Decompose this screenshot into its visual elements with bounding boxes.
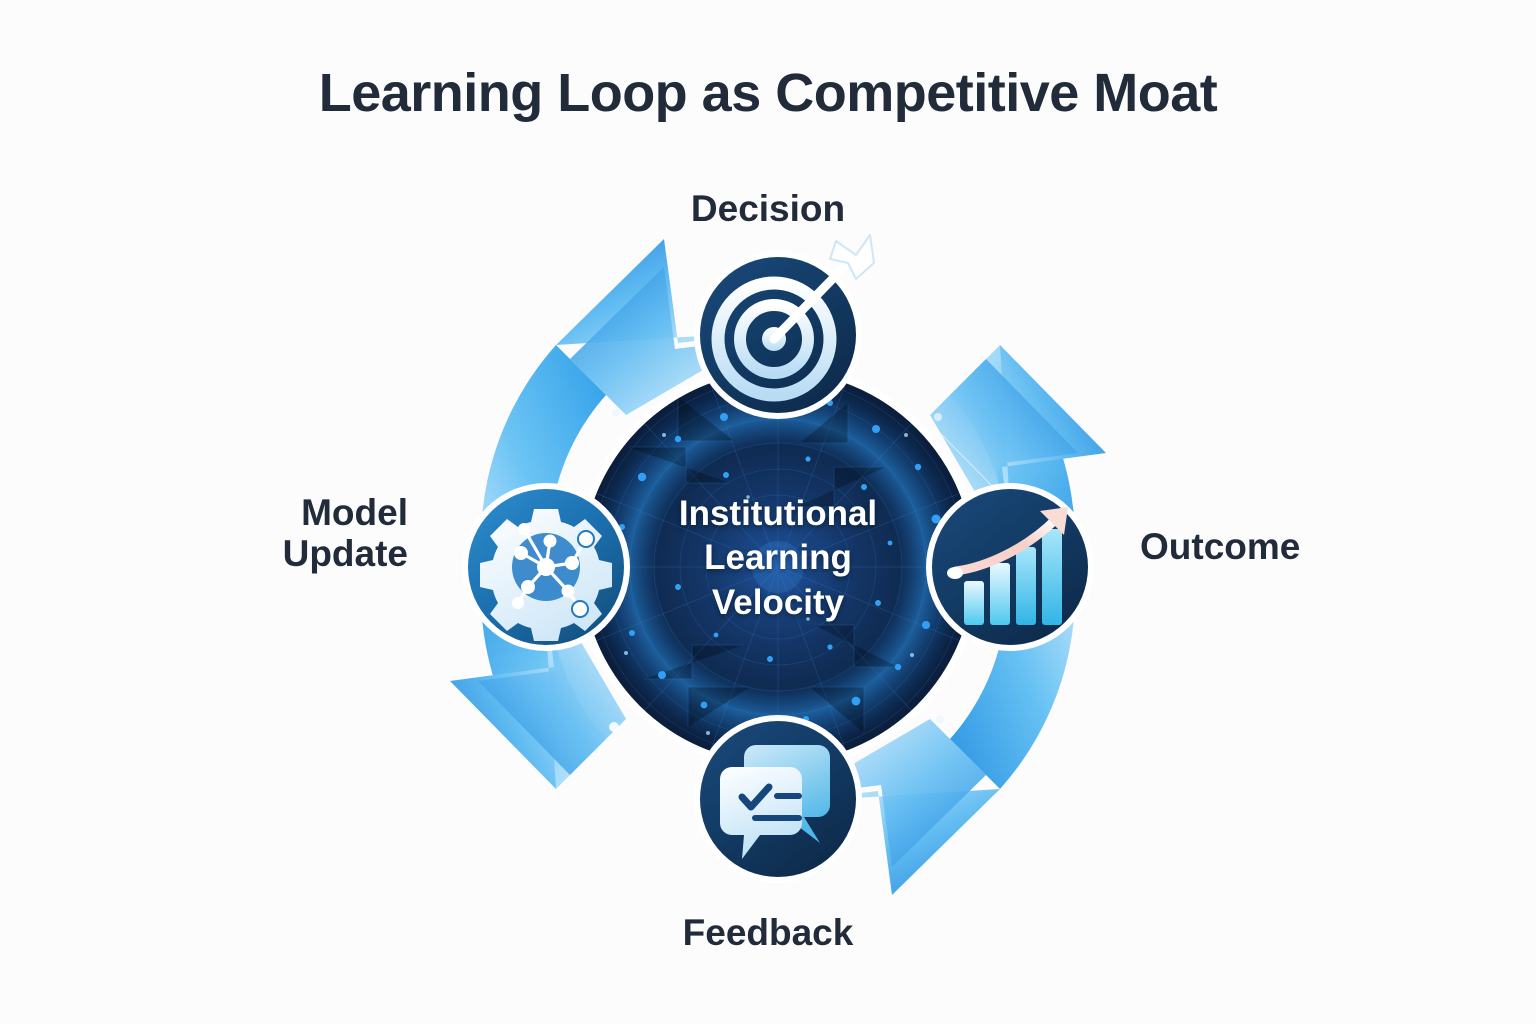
node-label-decision: Decision xyxy=(0,188,1536,229)
node-label-outcome: Outcome xyxy=(1140,526,1300,567)
core-disc xyxy=(575,364,981,770)
node-model-update[interactable] xyxy=(462,483,630,651)
node-feedback[interactable] xyxy=(694,715,862,883)
diagram-canvas: Learning Loop as Competitive Moat xyxy=(0,0,1536,1024)
gear-network-icon xyxy=(480,509,612,641)
node-label-feedback: Feedback xyxy=(0,912,1536,953)
node-label-model-update: Model Update xyxy=(150,492,408,575)
learning-loop-diagram xyxy=(378,167,1178,967)
node-outcome[interactable] xyxy=(926,483,1094,651)
page-title: Learning Loop as Competitive Moat xyxy=(0,62,1536,124)
